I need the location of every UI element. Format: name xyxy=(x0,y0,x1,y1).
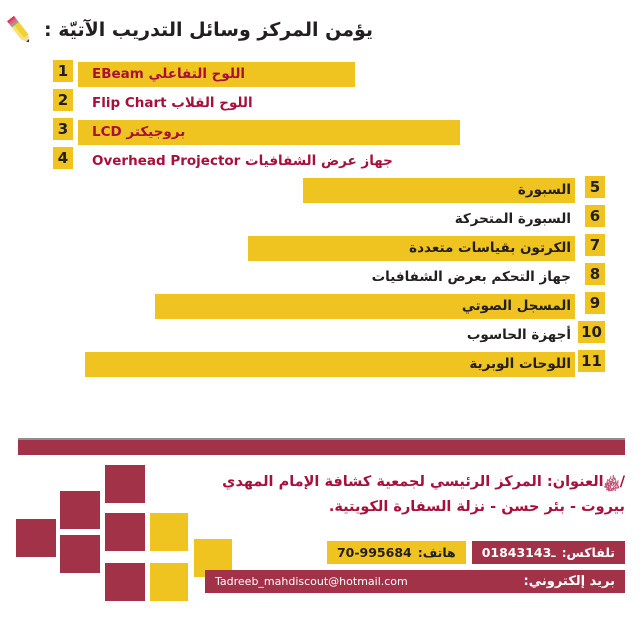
list-item-number: 2 xyxy=(53,89,73,111)
list-item-label-en: EBeam xyxy=(92,66,144,82)
seal-glyph: ﷾ xyxy=(604,471,620,495)
list-item-number: 8 xyxy=(585,263,605,285)
list-item-label: اللوح القلاب Flip Chart xyxy=(92,93,253,113)
list-item: 9المسجل الصوتي xyxy=(0,292,643,321)
list-item-label: جهاز عرض الشفافيات Overhead Projector xyxy=(92,151,393,171)
list-item-number: 5 xyxy=(585,176,605,198)
phone-label: هاتف: xyxy=(418,545,456,560)
list-item-label: أجهزة الحاسوب xyxy=(467,325,571,345)
email-chip[interactable]: بريد إلكتروني: Tadreeb_mahdiscout@hotmai… xyxy=(205,570,625,593)
telefax-label: تلفاكس: xyxy=(562,545,615,560)
list-item-label-ar: بروجيكتر xyxy=(122,124,186,140)
list-item-label: جهاز التحكم بعرض الشفافيات xyxy=(372,267,571,287)
list-item-number: 6 xyxy=(585,205,605,227)
mosaic-square xyxy=(148,511,190,553)
phone-chip[interactable]: هاتف: 70-995684 xyxy=(327,541,466,564)
mosaic-square xyxy=(103,561,147,603)
telefax-chip[interactable]: تلفاكس: 01ـ843143 xyxy=(472,541,625,564)
list-item-label-en: LCD xyxy=(92,124,122,140)
address-line-1: /﷾العنوان: المركز الرئيسي لجمعية كشافة ا… xyxy=(195,470,625,495)
list-item-number: 7 xyxy=(585,234,605,256)
address-line-2: بيروت - بئر حسن - نزلة السفارة الكويتية. xyxy=(195,495,625,519)
list-item: 2اللوح القلاب Flip Chart xyxy=(0,89,643,118)
email-label: بريد إلكتروني: xyxy=(524,574,616,589)
list-item-label-ar: اللوح التفاعلي xyxy=(144,66,245,82)
list-item-label-ar: جهاز عرض الشفافيات xyxy=(240,153,393,169)
list-item-label: الكرتون بقياسات متعددة xyxy=(409,238,571,258)
contact-block: تلفاكس: 01ـ843143 هاتف: 70-995684 بريد إ… xyxy=(205,541,625,599)
address-line-1-suffix: / xyxy=(620,474,625,490)
contact-row-phones: تلفاكس: 01ـ843143 هاتف: 70-995684 xyxy=(205,541,625,564)
list-item-label: اللوحات الوبرية xyxy=(469,354,571,374)
phone-value: 70-995684 xyxy=(337,545,412,560)
page-header: يؤمن المركز وسائل التدريب الآتيّة : xyxy=(0,8,631,52)
list-item-number: 10 xyxy=(578,321,605,343)
list-item-number: 1 xyxy=(53,60,73,82)
list-item-label: بروجيكتر LCD xyxy=(92,122,185,142)
list-item-label: اللوح التفاعلي EBeam xyxy=(92,64,245,84)
list-item-number: 11 xyxy=(578,350,605,372)
address-block: /﷾العنوان: المركز الرئيسي لجمعية كشافة ا… xyxy=(195,470,625,519)
list-item: 1اللوح التفاعلي EBeam xyxy=(0,60,643,89)
mosaic-square xyxy=(148,561,190,603)
contact-row-email: بريد إلكتروني: Tadreeb_mahdiscout@hotmai… xyxy=(205,570,625,593)
list-item: 6السبورة المتحركة xyxy=(0,205,643,234)
list-item: 8جهاز التحكم بعرض الشفافيات xyxy=(0,263,643,292)
pencil-icon xyxy=(0,11,38,49)
mosaic-square xyxy=(58,533,102,575)
list-item-number: 4 xyxy=(53,147,73,169)
mosaic-square xyxy=(103,511,147,553)
list-item-label: المسجل الصوتي xyxy=(462,296,571,316)
list-item-label: السبورة xyxy=(518,180,571,200)
equipment-list: 1اللوح التفاعلي EBeam2اللوح القلاب Flip … xyxy=(0,58,643,418)
telefax-value: 01ـ843143 xyxy=(482,545,556,560)
list-item-label-en: Overhead Projector xyxy=(92,153,240,169)
list-item-label: السبورة المتحركة xyxy=(455,209,571,229)
list-item-number: 9 xyxy=(585,292,605,314)
list-item: 10أجهزة الحاسوب xyxy=(0,321,643,350)
list-item: 4جهاز عرض الشفافيات Overhead Projector xyxy=(0,147,643,176)
list-item: 11اللوحات الوبرية xyxy=(0,350,643,379)
list-item-number: 3 xyxy=(53,118,73,140)
list-item: 3بروجيكتر LCD xyxy=(0,118,643,147)
list-item-label-ar: اللوح القلاب xyxy=(167,95,253,111)
list-item: 7الكرتون بقياسات متعددة xyxy=(0,234,643,263)
mosaic-square xyxy=(103,463,147,505)
list-item: 5السبورة xyxy=(0,176,643,205)
address-line-1-text: العنوان: المركز الرئيسي لجمعية كشافة الإ… xyxy=(222,474,604,490)
page-title: يؤمن المركز وسائل التدريب الآتيّة : xyxy=(44,19,373,41)
email-value: Tadreeb_mahdiscout@hotmail.com xyxy=(215,575,408,588)
mosaic-square xyxy=(14,517,58,559)
list-item-label-en: Flip Chart xyxy=(92,95,167,111)
mosaic-square xyxy=(58,489,102,531)
footer-bar xyxy=(18,440,625,455)
